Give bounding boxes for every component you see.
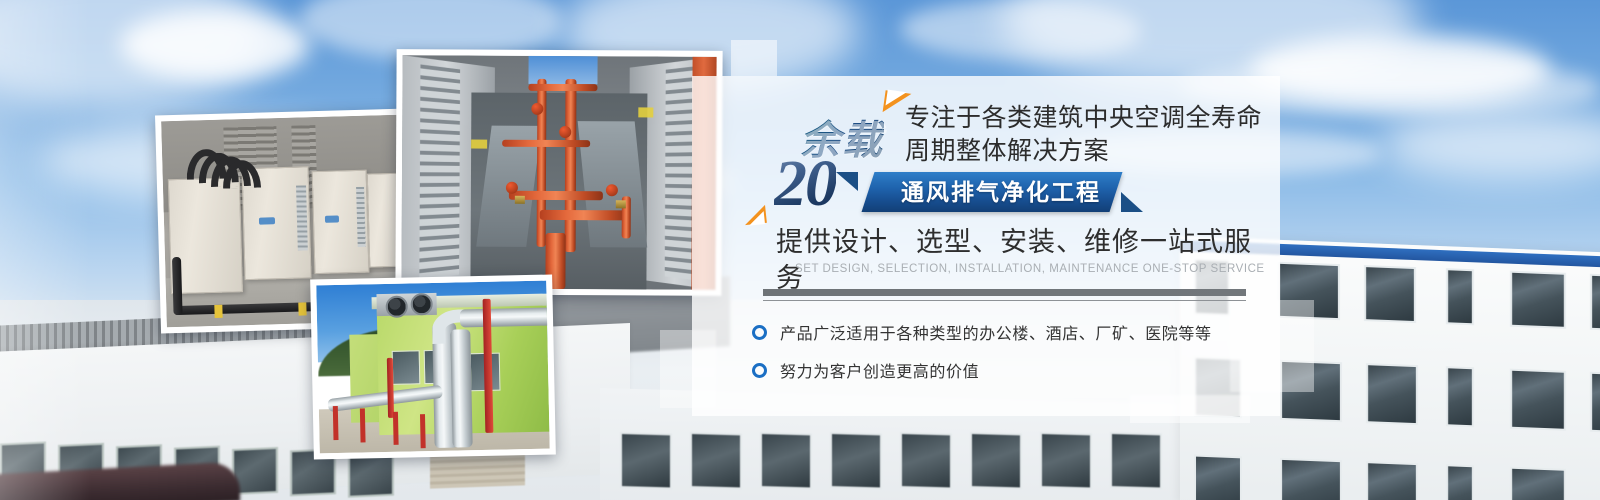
photo-rooftop-chiller-piping xyxy=(395,49,722,296)
service-line-cn: 提供设计、选型、安装、维修一站式服务 xyxy=(776,224,1276,296)
service-line-en: SET DESIGN, SELECTION, INSTALLATION, MAI… xyxy=(795,261,1265,277)
arrow-down-left-icon xyxy=(743,205,767,225)
years-number: 20 xyxy=(774,146,836,222)
ribbon-tail-right xyxy=(1121,172,1143,212)
bullet-label: 产品广泛适用于各种类型的办公楼、酒店、厂矿、医院等等 xyxy=(780,320,1212,344)
panel-accent-square xyxy=(731,40,777,76)
list-item: 产品广泛适用于各种类型的办公楼、酒店、厂矿、医院等等 xyxy=(752,313,1252,351)
ribbon-tail-left xyxy=(836,172,858,212)
bullet-list: 产品广泛适用于各种类型的办公楼、酒店、厂矿、医院等等 努力为客户创造更高的价值 xyxy=(752,313,1252,389)
bullet-label: 努力为客户创造更高的价值 xyxy=(780,358,979,382)
photo-insulated-duct-installation xyxy=(310,274,556,459)
hvac-promo-banner: 余载 20 专注于各类建筑中央空调全寿命周期整体解决方案 通风排气净化工程 提供… xyxy=(0,0,1600,500)
circle-ring-icon xyxy=(752,325,767,340)
list-item: 努力为客户创造更高的价值 xyxy=(752,351,1252,389)
ribbon-label: 通风排气净化工程 xyxy=(886,178,1116,206)
circle-ring-icon xyxy=(752,363,767,378)
divider-thin xyxy=(763,300,1246,301)
divider-thick xyxy=(763,289,1246,296)
headline-text: 专注于各类建筑中央空调全寿命周期整体解决方案 xyxy=(905,102,1275,168)
